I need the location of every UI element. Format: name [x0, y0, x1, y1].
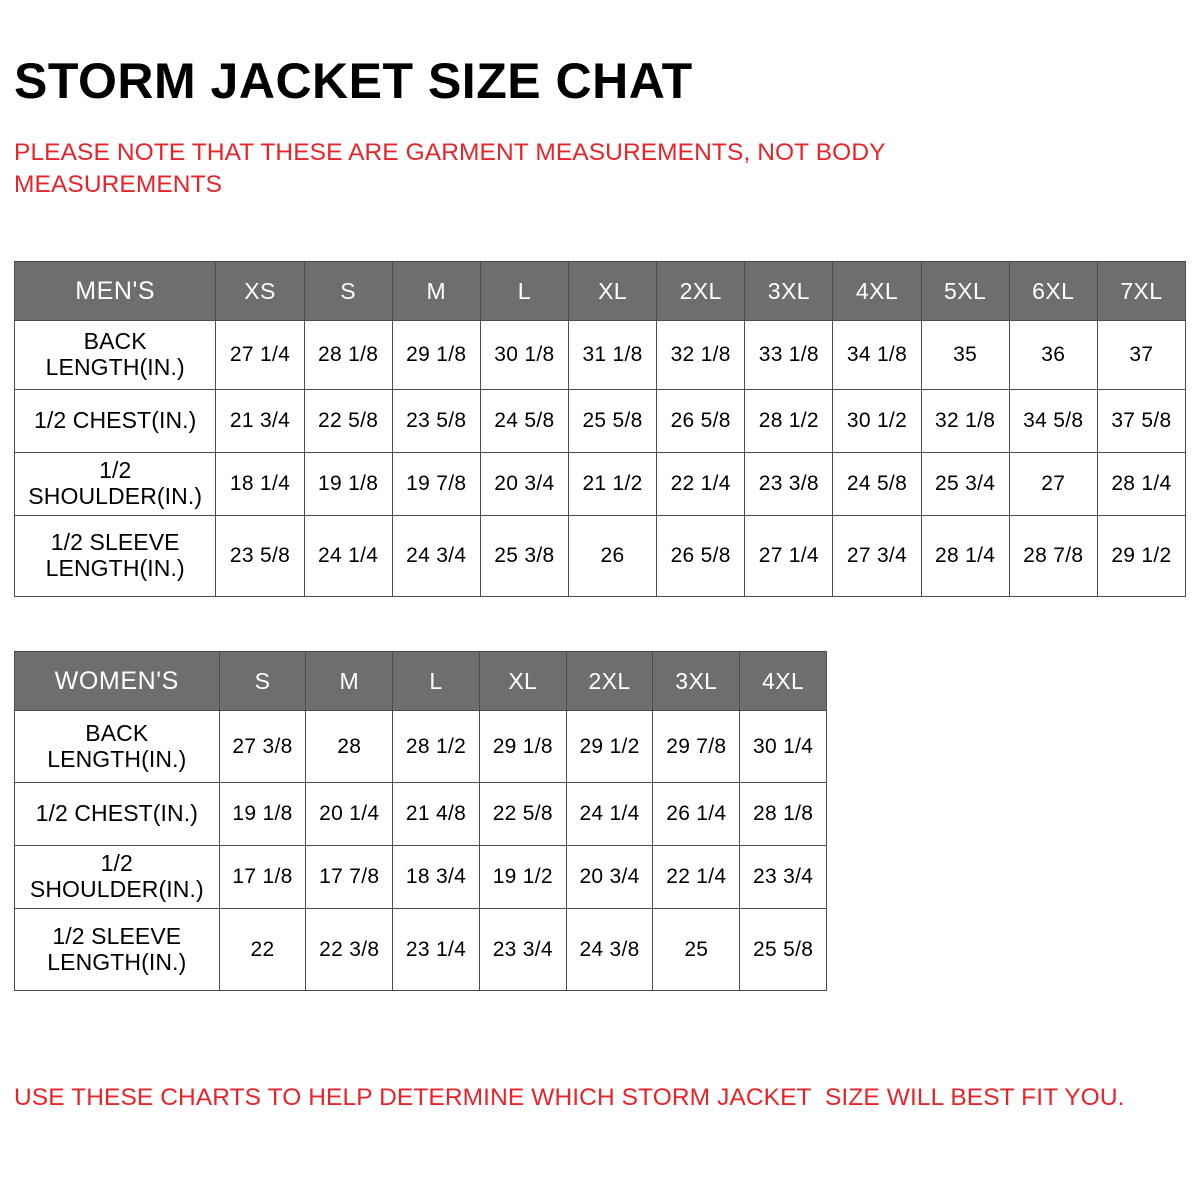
- womens-size-header-4xl: 4XL: [740, 652, 827, 711]
- measurement-cell: 25 5/8: [568, 390, 656, 453]
- measurement-cell: 24 3/8: [566, 909, 653, 991]
- womens-table-body: BACKLENGTH(IN.)27 3/82828 1/229 1/829 1/…: [15, 711, 827, 991]
- measurement-cell: 23 3/8: [745, 453, 833, 516]
- measurement-cell: 29 7/8: [653, 711, 740, 783]
- measurement-cell: 27 1/4: [216, 321, 304, 390]
- measurement-cell: 27 3/4: [833, 516, 921, 597]
- measurement-label: 1/2 SHOULDER(IN.): [15, 846, 220, 909]
- mens-size-header-7xl: 7XL: [1097, 262, 1185, 321]
- table-row: BACKLENGTH(IN.)27 1/428 1/829 1/830 1/83…: [15, 321, 1186, 390]
- mens-size-header-m: M: [392, 262, 480, 321]
- womens-size-header-xl: XL: [479, 652, 566, 711]
- table-row: 1/2 SLEEVELENGTH(IN.)23 5/824 1/424 3/42…: [15, 516, 1186, 597]
- measurement-cell: 19 1/8: [219, 783, 306, 846]
- measurement-cell: 25 3/8: [480, 516, 568, 597]
- measurement-cell: 29 1/8: [392, 321, 480, 390]
- womens-table-head: WOMEN'SSMLXL2XL3XL4XL: [15, 652, 827, 711]
- measurement-cell: 22 1/4: [657, 453, 745, 516]
- measurement-cell: 19 1/8: [304, 453, 392, 516]
- table-row: 1/2 CHEST(IN.)19 1/820 1/421 4/822 5/824…: [15, 783, 827, 846]
- measurement-cell: 27: [1009, 453, 1097, 516]
- measurement-cell: 30 1/2: [833, 390, 921, 453]
- measurement-cell: 34 5/8: [1009, 390, 1097, 453]
- measurement-cell: 20 3/4: [566, 846, 653, 909]
- measurement-cell: 25 3/4: [921, 453, 1009, 516]
- measurement-cell: 28: [306, 711, 393, 783]
- measurement-label: 1/2 SLEEVELENGTH(IN.): [15, 909, 220, 991]
- garment-measurement-note: PLEASE NOTE THAT THESE ARE GARMENT MEASU…: [14, 137, 974, 202]
- measurement-cell: 20 1/4: [306, 783, 393, 846]
- measurement-cell: 37 5/8: [1097, 390, 1185, 453]
- measurement-cell: 22: [219, 909, 306, 991]
- measurement-cell: 21 4/8: [393, 783, 480, 846]
- measurement-cell: 26 1/4: [653, 783, 740, 846]
- measurement-cell: 29 1/2: [1097, 516, 1185, 597]
- measurement-cell: 24 1/4: [566, 783, 653, 846]
- page-title: STORM JACKET SIZE CHAT: [14, 56, 693, 106]
- measurement-cell: 29 1/8: [479, 711, 566, 783]
- measurement-label: BACKLENGTH(IN.): [15, 711, 220, 783]
- womens-corner-header: WOMEN'S: [15, 652, 220, 711]
- measurement-cell: 24 3/4: [392, 516, 480, 597]
- measurement-cell: 25 5/8: [740, 909, 827, 991]
- measurement-cell: 18 3/4: [393, 846, 480, 909]
- measurement-cell: 26 5/8: [657, 390, 745, 453]
- measurement-cell: 18 1/4: [216, 453, 304, 516]
- womens-size-table: WOMEN'SSMLXL2XL3XL4XL BACKLENGTH(IN.)27 …: [14, 651, 827, 991]
- mens-size-header-5xl: 5XL: [921, 262, 1009, 321]
- measurement-cell: 30 1/8: [480, 321, 568, 390]
- measurement-cell: 24 5/8: [833, 453, 921, 516]
- measurement-label: BACKLENGTH(IN.): [15, 321, 216, 390]
- measurement-cell: 21 3/4: [216, 390, 304, 453]
- mens-table-head: MEN'SXSSMLXL2XL3XL4XL5XL6XL7XL: [15, 262, 1186, 321]
- table-row: 1/2 SLEEVELENGTH(IN.)2222 3/823 1/423 3/…: [15, 909, 827, 991]
- mens-size-header-2xl: 2XL: [657, 262, 745, 321]
- measurement-cell: 27 1/4: [745, 516, 833, 597]
- womens-size-header-l: L: [393, 652, 480, 711]
- measurement-cell: 22 5/8: [304, 390, 392, 453]
- measurement-cell: 26 5/8: [657, 516, 745, 597]
- measurement-cell: 22 3/8: [306, 909, 393, 991]
- measurement-cell: 32 1/8: [921, 390, 1009, 453]
- measurement-cell: 29 1/2: [566, 711, 653, 783]
- measurement-cell: 37: [1097, 321, 1185, 390]
- mens-size-header-l: L: [480, 262, 568, 321]
- measurement-cell: 17 7/8: [306, 846, 393, 909]
- measurement-cell: 24 1/4: [304, 516, 392, 597]
- measurement-cell: 25: [653, 909, 740, 991]
- measurement-cell: 35: [921, 321, 1009, 390]
- womens-size-header-s: S: [219, 652, 306, 711]
- mens-size-header-4xl: 4XL: [833, 262, 921, 321]
- measurement-cell: 32 1/8: [657, 321, 745, 390]
- measurement-cell: 23 5/8: [392, 390, 480, 453]
- womens-header-row: WOMEN'SSMLXL2XL3XL4XL: [15, 652, 827, 711]
- mens-size-header-s: S: [304, 262, 392, 321]
- measurement-cell: 28 1/8: [740, 783, 827, 846]
- measurement-label: 1/2 CHEST(IN.): [15, 390, 216, 453]
- measurement-cell: 28 1/4: [1097, 453, 1185, 516]
- measurement-cell: 28 1/4: [921, 516, 1009, 597]
- womens-size-header-2xl: 2XL: [566, 652, 653, 711]
- measurement-label: 1/2 SLEEVELENGTH(IN.): [15, 516, 216, 597]
- measurement-cell: 20 3/4: [480, 453, 568, 516]
- footer-note: USE THESE CHARTS TO HELP DETERMINE WHICH…: [14, 1082, 1125, 1114]
- size-chart-page: STORM JACKET SIZE CHAT PLEASE NOTE THAT …: [0, 0, 1200, 1200]
- table-row: BACKLENGTH(IN.)27 3/82828 1/229 1/829 1/…: [15, 711, 827, 783]
- measurement-cell: 30 1/4: [740, 711, 827, 783]
- measurement-cell: 19 7/8: [392, 453, 480, 516]
- mens-size-header-3xl: 3XL: [745, 262, 833, 321]
- measurement-label: 1/2 SHOULDER(IN.): [15, 453, 216, 516]
- measurement-cell: 21 1/2: [568, 453, 656, 516]
- measurement-cell: 23 3/4: [479, 909, 566, 991]
- measurement-cell: 28 1/2: [745, 390, 833, 453]
- table-row: 1/2 CHEST(IN.)21 3/422 5/823 5/824 5/825…: [15, 390, 1186, 453]
- mens-header-row: MEN'SXSSMLXL2XL3XL4XL5XL6XL7XL: [15, 262, 1186, 321]
- measurement-cell: 22 1/4: [653, 846, 740, 909]
- measurement-cell: 31 1/8: [568, 321, 656, 390]
- measurement-cell: 23 1/4: [393, 909, 480, 991]
- measurement-cell: 26: [568, 516, 656, 597]
- measurement-cell: 28 1/8: [304, 321, 392, 390]
- measurement-cell: 28 1/2: [393, 711, 480, 783]
- mens-table-body: BACKLENGTH(IN.)27 1/428 1/829 1/830 1/83…: [15, 321, 1186, 597]
- measurement-cell: 22 5/8: [479, 783, 566, 846]
- measurement-label: 1/2 CHEST(IN.): [15, 783, 220, 846]
- measurement-cell: 27 3/8: [219, 711, 306, 783]
- mens-corner-header: MEN'S: [15, 262, 216, 321]
- table-row: 1/2 SHOULDER(IN.)17 1/817 7/818 3/419 1/…: [15, 846, 827, 909]
- measurement-cell: 36: [1009, 321, 1097, 390]
- measurement-cell: 19 1/2: [479, 846, 566, 909]
- measurement-cell: 24 5/8: [480, 390, 568, 453]
- measurement-cell: 34 1/8: [833, 321, 921, 390]
- measurement-cell: 17 1/8: [219, 846, 306, 909]
- mens-size-header-xs: XS: [216, 262, 304, 321]
- mens-size-header-xl: XL: [568, 262, 656, 321]
- womens-size-header-m: M: [306, 652, 393, 711]
- measurement-cell: 28 7/8: [1009, 516, 1097, 597]
- mens-size-header-6xl: 6XL: [1009, 262, 1097, 321]
- measurement-cell: 23 3/4: [740, 846, 827, 909]
- mens-size-table: MEN'SXSSMLXL2XL3XL4XL5XL6XL7XL BACKLENGT…: [14, 261, 1186, 597]
- measurement-cell: 33 1/8: [745, 321, 833, 390]
- table-row: 1/2 SHOULDER(IN.)18 1/419 1/819 7/820 3/…: [15, 453, 1186, 516]
- measurement-cell: 23 5/8: [216, 516, 304, 597]
- womens-size-header-3xl: 3XL: [653, 652, 740, 711]
